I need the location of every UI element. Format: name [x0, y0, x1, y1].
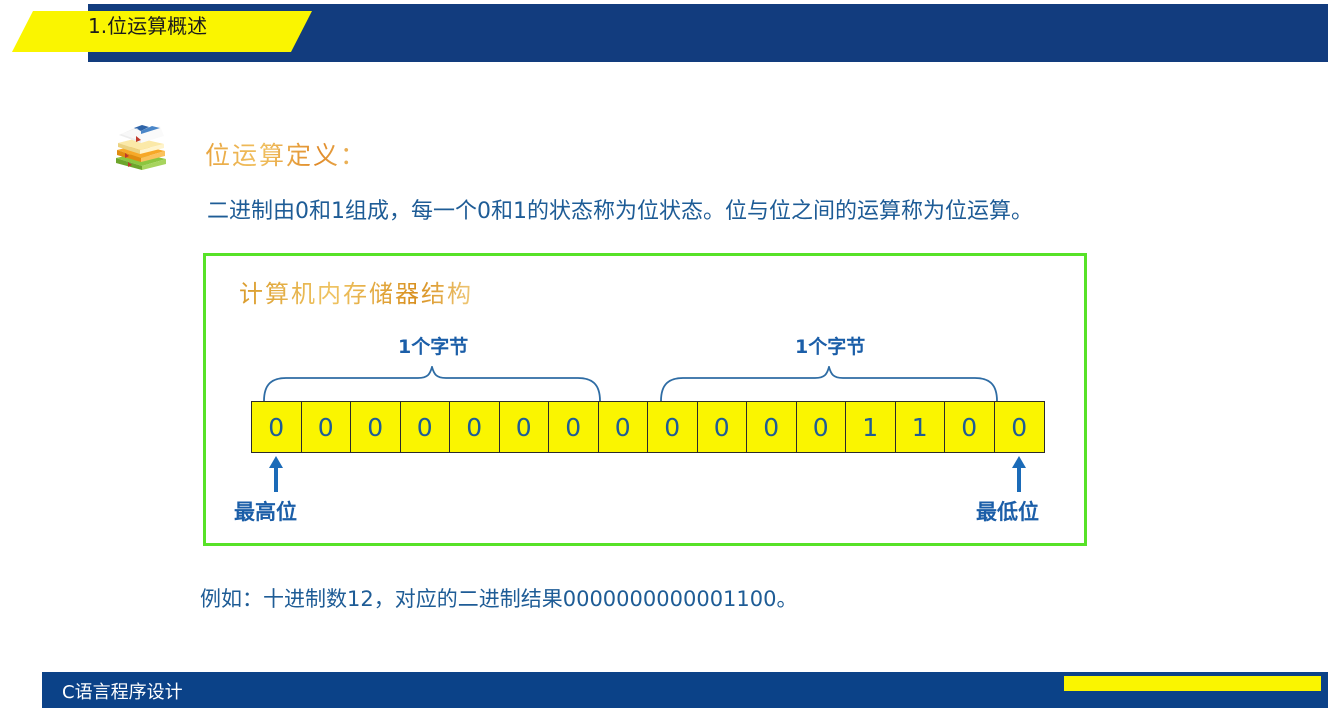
bit-cell: 1	[846, 402, 896, 452]
bit-cell: 0	[302, 402, 352, 452]
definition-title: 位运算定义：	[205, 136, 367, 172]
bit-cell: 0	[450, 402, 500, 452]
bit-cell: 0	[500, 402, 550, 452]
footer-course-title: C语言程序设计	[62, 678, 183, 704]
arrow-up-icon-lsb	[1009, 456, 1029, 497]
bit-cell: 0	[648, 402, 698, 452]
footer-yellow-accent	[1064, 676, 1321, 691]
bit-cell: 0	[599, 402, 649, 452]
memory-box-title: 计算机内存储器结构	[239, 274, 473, 309]
bit-cell: 0	[945, 402, 995, 452]
bit-cell-row: 0 0 0 0 0 0 0 0 0 0 0 0 1 1 0 0	[251, 401, 1045, 453]
slide-header: 1.位运算概述	[0, 0, 1328, 70]
memory-structure-box: 计算机内存储器结构 1个字节 1个字节 0 0 0 0 0 0 0 0 0 0 …	[203, 253, 1087, 546]
bit-cell: 0	[252, 402, 302, 452]
byte-label-high: 1个字节	[398, 332, 468, 359]
bit-cell: 0	[797, 402, 847, 452]
lsb-label: 最低位	[976, 496, 1039, 526]
example-text: 例如：十进制数12，对应的二进制结果0000000000001100。	[200, 583, 798, 613]
bit-cell: 0	[549, 402, 599, 452]
bit-cell: 0	[995, 402, 1045, 452]
bit-cell: 0	[698, 402, 748, 452]
msb-label: 最高位	[234, 496, 297, 526]
bit-cell: 1	[896, 402, 946, 452]
arrow-up-icon-msb	[266, 456, 286, 497]
books-stack-icon	[112, 122, 168, 172]
definition-paragraph: 二进制由0和1组成，每一个0和1的状态称为位状态。位与位之间的运算称为位运算。	[207, 193, 1033, 225]
bit-cell: 0	[401, 402, 451, 452]
header-title-label: 1.位运算概述	[88, 10, 207, 39]
bit-cell: 0	[747, 402, 797, 452]
bit-cell: 0	[351, 402, 401, 452]
byte-label-low: 1个字节	[795, 332, 865, 359]
